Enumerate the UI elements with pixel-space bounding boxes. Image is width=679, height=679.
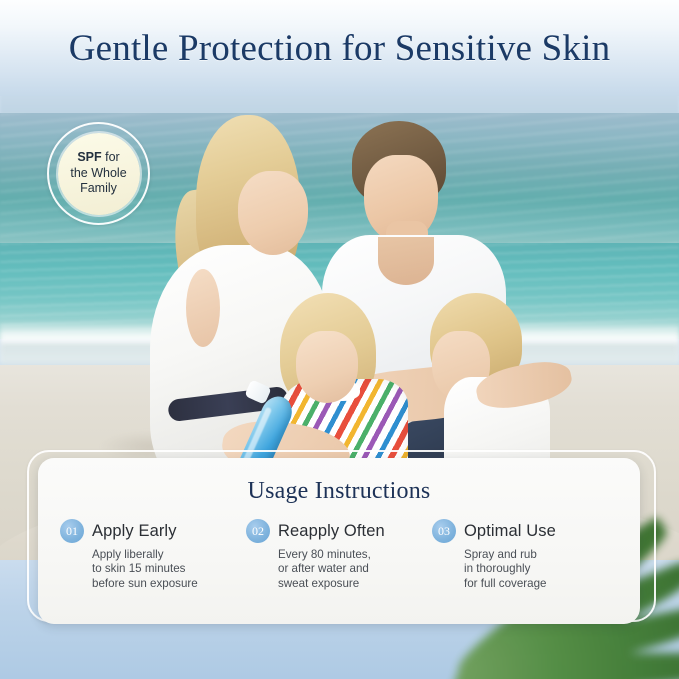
step-description-line: or after water and — [278, 562, 422, 576]
spf-badge-inner: SPF for the Whole Family — [58, 133, 140, 215]
step-description-line: Apply liberally — [92, 548, 236, 562]
step-description-line: Every 80 minutes, — [278, 548, 422, 562]
spf-badge-text: SPF for the Whole Family — [70, 150, 126, 197]
instruction-steps: 01 Apply Early Apply liberally to skin 1… — [38, 519, 640, 591]
spf-badge: SPF for the Whole Family — [47, 122, 150, 225]
step-description: Spray and rub in thoroughly for full cov… — [464, 548, 608, 591]
instruction-step-1: 01 Apply Early Apply liberally to skin 1… — [60, 519, 246, 591]
instructions-panel: Usage Instructions 01 Apply Early Apply … — [38, 458, 640, 624]
infographic-canvas: Gentle Protection for Sensitive Skin SPF… — [0, 0, 679, 679]
step-description-line: to skin 15 minutes — [92, 562, 236, 576]
step-title: Apply Early — [92, 522, 177, 541]
mother-shoulder — [186, 269, 220, 347]
step-title: Reapply Often — [278, 522, 385, 541]
spf-badge-line1-rest: for — [102, 150, 120, 164]
step-number-badge: 01 — [60, 519, 84, 543]
header-banner: Gentle Protection for Sensitive Skin — [0, 0, 679, 96]
step-description-line: Spray and rub — [464, 548, 608, 562]
instruction-step-3: 03 Optimal Use Spray and rub in thorough… — [432, 519, 618, 591]
step-description-line: sweat exposure — [278, 577, 422, 591]
step-description: Every 80 minutes, or after water and swe… — [278, 548, 422, 591]
step-header: 02 Reapply Often — [246, 519, 422, 543]
step-description-line: before sun exposure — [92, 577, 236, 591]
step-description: Apply liberally to skin 15 minutes befor… — [92, 548, 236, 591]
instruction-step-2: 02 Reapply Often Every 80 minutes, or af… — [246, 519, 432, 591]
spf-badge-line3: Family — [80, 181, 117, 195]
instructions-title: Usage Instructions — [38, 478, 640, 505]
step-description-line: for full coverage — [464, 577, 608, 591]
step-header: 03 Optimal Use — [432, 519, 608, 543]
father-shirt-neckline — [378, 237, 434, 285]
step-number-badge: 03 — [432, 519, 456, 543]
step-header: 01 Apply Early — [60, 519, 236, 543]
page-title: Gentle Protection for Sensitive Skin — [69, 27, 611, 70]
step-title: Optimal Use — [464, 522, 556, 541]
daughter-face — [296, 331, 358, 403]
mother-face — [238, 171, 308, 255]
step-number-badge: 02 — [246, 519, 270, 543]
spf-badge-line1-bold: SPF — [77, 150, 101, 164]
spf-badge-line2: the Whole — [70, 166, 126, 180]
step-description-line: in thoroughly — [464, 562, 608, 576]
